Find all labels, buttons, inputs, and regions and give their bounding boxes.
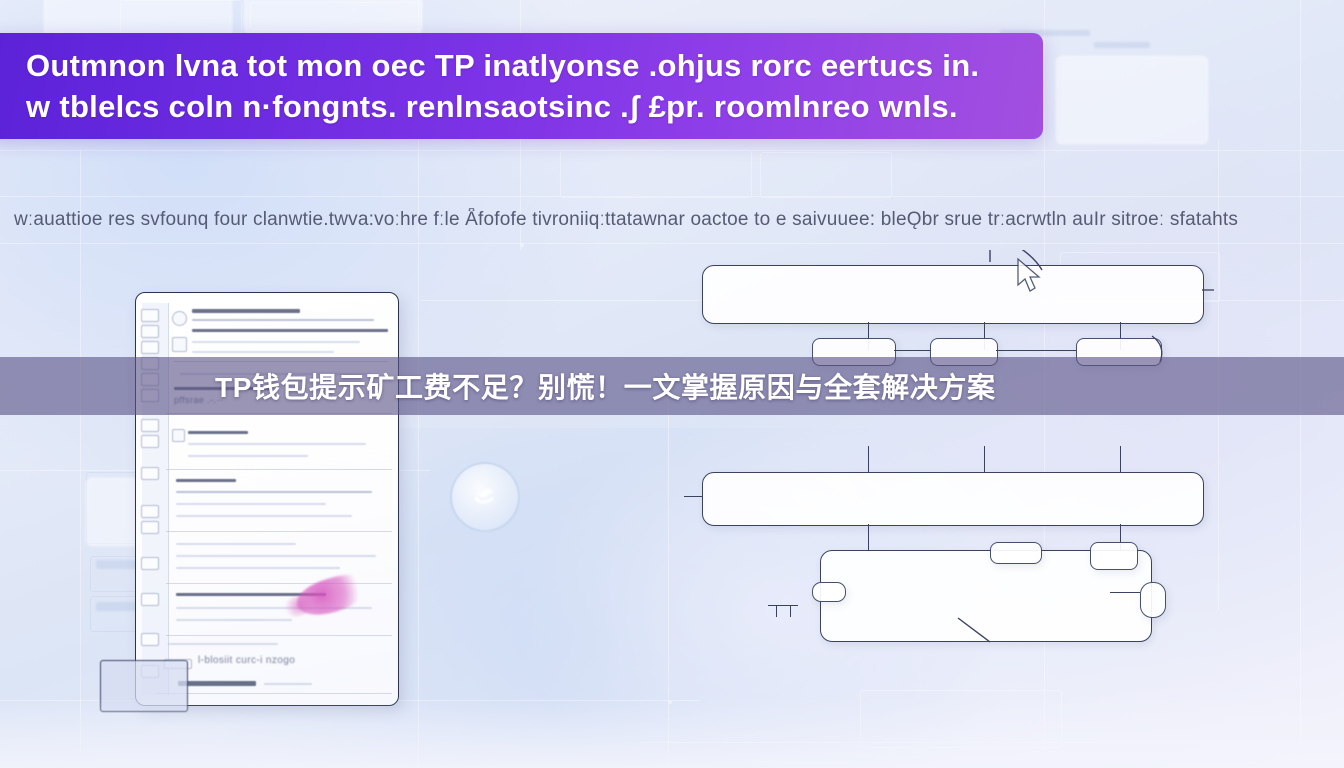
rail-icon-11 [141, 521, 159, 534]
hero-banner: Outmnon lvna tot mon oec TP inatlyonse .… [0, 33, 1043, 139]
sub-caption: wːauattioe res svfounq four clanwtie.twv… [0, 205, 1344, 235]
flow-link-g [1110, 592, 1140, 593]
doc-line-16 [176, 567, 340, 569]
ghost-card-top-mid [244, 0, 422, 34]
flow-link-a-b [894, 350, 930, 351]
flow-tick-h [768, 605, 798, 606]
doc-separator-3 [166, 469, 392, 470]
doc-line-21 [178, 681, 256, 686]
flow-connector-bot-1 [868, 524, 869, 552]
doc-chip-circle [172, 311, 187, 326]
hero-banner-line-2: w tblelcs coln n·fongnts. renlnsaotsinc … [26, 86, 1017, 127]
flow-link-b-c [996, 350, 1076, 351]
ghost-bar-b [1094, 42, 1150, 48]
flow-node-g [1140, 582, 1166, 618]
doc-line-8 [188, 443, 366, 445]
pointer-sketch-icon [1010, 255, 1050, 301]
flowchart-diagram [690, 250, 1220, 680]
doc-chip-square [172, 337, 187, 352]
doc-line-7 [188, 431, 248, 434]
headline-overlay-band: TP钱包提示矿工费不足？别慌！一文掌握原因与全套解决方案 [0, 357, 1344, 415]
rail-icon-13 [141, 593, 159, 606]
doc-line-15 [176, 555, 376, 557]
doc-line-12 [176, 503, 326, 505]
rail-icon-1 [141, 309, 159, 322]
rail-icon-2 [141, 325, 159, 338]
flow-node-f [812, 582, 846, 602]
page-title: TP钱包提示矿工费不足？别慌！一文掌握原因与全套解决方案 [0, 366, 996, 406]
doc-caption-text: l-blosiit curc-i nzogo [198, 655, 295, 666]
flow-connector-mid-3 [1120, 446, 1121, 472]
ghost-card-right-upper [1056, 56, 1208, 144]
wallet-badge-icon [450, 462, 520, 532]
doc-separator-7 [156, 693, 392, 694]
poster-canvas: Outmnon lvna tot mon oec TP inatlyonse .… [0, 0, 1344, 768]
doc-line-title [192, 309, 300, 313]
doc-line-2 [192, 329, 388, 332]
bottom-fade [0, 698, 1344, 768]
flow-node-e [1090, 542, 1138, 570]
rail-icon-8 [141, 435, 159, 448]
doc-separator-6 [166, 635, 392, 636]
doc-chip-badge [172, 429, 185, 442]
rail-icon-12 [141, 557, 159, 570]
doc-line-22 [264, 683, 312, 685]
rail-icon-10 [141, 505, 159, 518]
flow-box-top [702, 265, 1204, 324]
hero-banner-line-1: Outmnon lvna tot mon oec TP inatlyonse .… [26, 45, 1017, 86]
doc-line-14 [176, 543, 296, 545]
doc-line-10 [176, 479, 236, 482]
flow-box-middle [702, 472, 1204, 526]
flow-tick-v1 [776, 605, 777, 617]
flow-tick-v2 [790, 605, 791, 617]
doc-separator-4 [166, 531, 392, 532]
flow-node-d [990, 542, 1042, 564]
doc-line-9 [188, 455, 308, 457]
rail-icon-3 [141, 341, 159, 354]
document-mockup-panel: pffsrae .-.·· l-blosiit curc-i nzogo [135, 292, 399, 706]
rail-icon-14 [141, 633, 159, 646]
sub-caption-text: wːauattioe res svfounq four clanwtie.twv… [0, 205, 1238, 235]
badge-glyph-icon [468, 480, 502, 514]
doc-line-3 [192, 341, 360, 343]
flow-connector-mid-2 [984, 446, 985, 472]
flow-connector-mid-1 [868, 446, 869, 472]
doc-line-19 [176, 619, 292, 621]
doc-line-13 [176, 515, 352, 517]
ghost-bar-d [96, 602, 140, 611]
thumbnail-frame [100, 660, 188, 712]
doc-line-1 [192, 319, 374, 321]
doc-line-20 [168, 643, 278, 645]
doc-line-4 [192, 351, 334, 353]
rail-icon-9 [141, 467, 159, 480]
doc-line-11 [176, 491, 372, 493]
flow-connector-mid-left [684, 496, 702, 497]
rail-icon-7 [141, 419, 159, 432]
